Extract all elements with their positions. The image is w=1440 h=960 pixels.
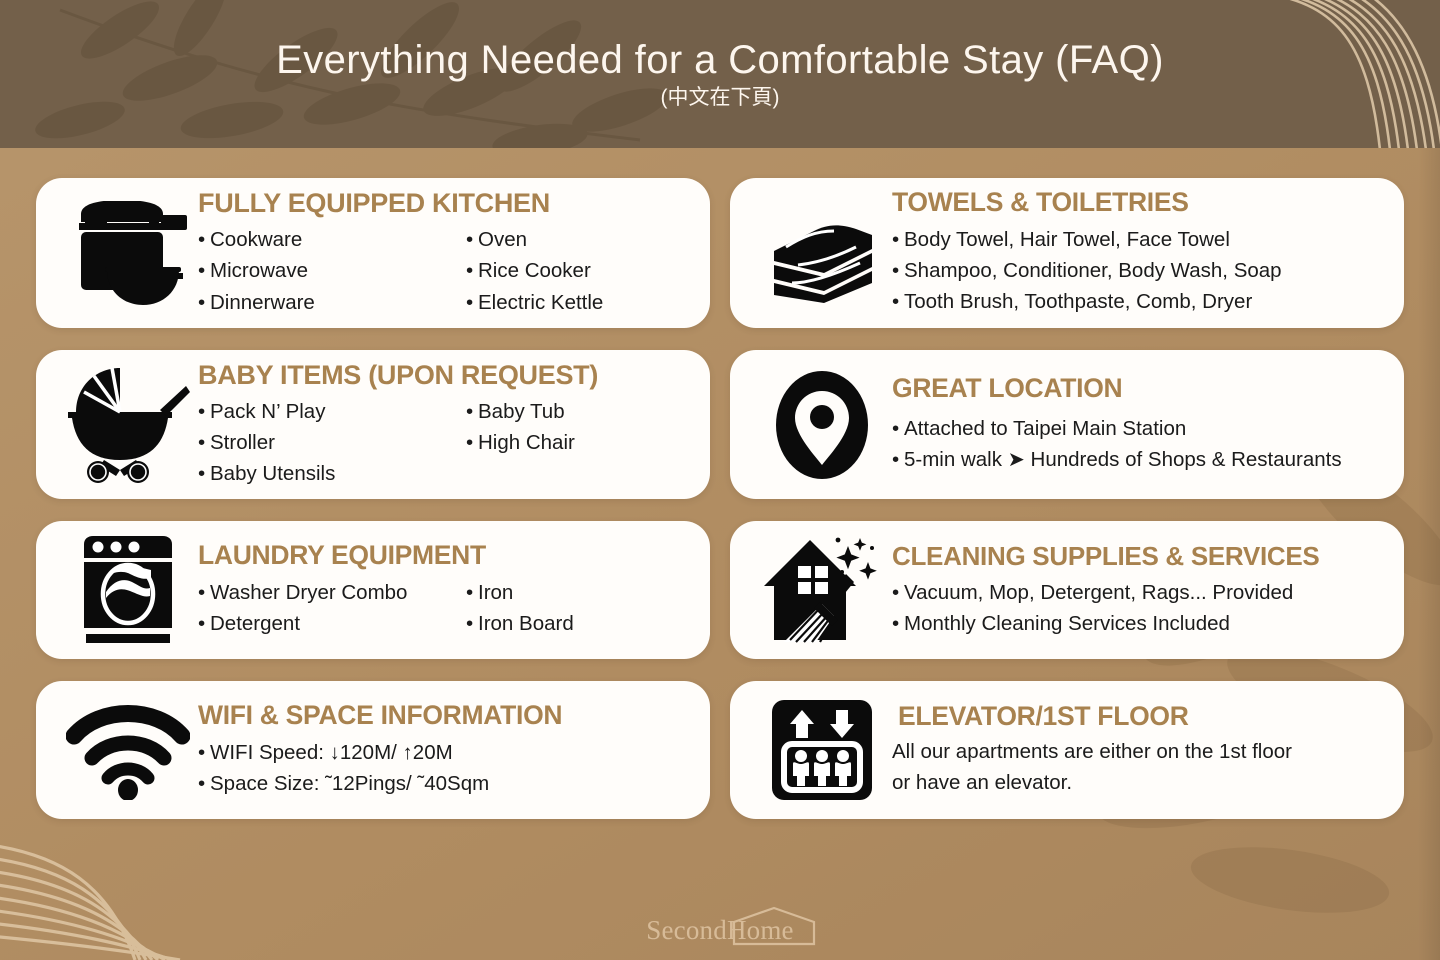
list-item: •Baby Tub xyxy=(466,396,575,427)
list-item: •Pack N’ Play xyxy=(198,396,466,427)
card-elevator[interactable]: ELEVATOR/1ST FLOOR All our apartments ar… xyxy=(730,681,1404,819)
card-title-great-location: GREAT LOCATION xyxy=(892,374,1382,404)
list-item: •Stroller xyxy=(198,427,466,458)
card-body-towels: TOWELS & TOILETRIES •Body Towel, Hair To… xyxy=(892,188,1388,317)
house-broom-sparkle-icon xyxy=(752,531,892,649)
baby-bullets: •Pack N’ Play •Stroller •Baby Utensils •… xyxy=(198,396,688,489)
elevator-icon xyxy=(752,691,892,809)
list-item: •Electric Kettle xyxy=(466,287,603,318)
cleaning-bullets: •Vacuum, Mop, Detergent, Rags... Provide… xyxy=(892,577,1382,639)
wifi-bullets: •WIFI Speed: ↓120M/ ↑20M •Space Size: ˜1… xyxy=(198,737,688,799)
folded-towels-icon xyxy=(752,194,892,312)
towels-bullets: •Body Towel, Hair Towel, Face Towel •Sha… xyxy=(892,224,1382,317)
list-item: •Shampoo, Conditioner, Body Wash, Soap xyxy=(892,255,1382,286)
right-edge-shade xyxy=(1418,148,1440,960)
list-item: •Iron Board xyxy=(466,608,574,639)
card-title-laundry: LAUNDRY EQUIPMENT xyxy=(198,541,688,571)
page-subtitle: (中文在下頁) xyxy=(661,86,780,109)
card-towels[interactable]: TOWELS & TOILETRIES •Body Towel, Hair To… xyxy=(730,178,1404,328)
list-item: •Microwave xyxy=(198,255,466,286)
list-item: •Space Size: ˜12Pings/ ˜40Sqm xyxy=(198,768,688,799)
footer: SecondHome xyxy=(0,915,1440,946)
list-item: •Monthly Cleaning Services Included xyxy=(892,608,1382,639)
card-body-wifi: WIFI & SPACE INFORMATION •WIFI Speed: ↓1… xyxy=(198,701,694,799)
elevator-description-line1: All our apartments are either on the 1st… xyxy=(892,737,1382,768)
card-title-wifi: WIFI & SPACE INFORMATION xyxy=(198,701,688,731)
card-title-baby-items: BABY ITEMS (UPON REQUEST) xyxy=(198,360,688,390)
laundry-column-b: •Iron •Iron Board xyxy=(466,577,574,639)
card-great-location[interactable]: GREAT LOCATION •Attached to Taipei Main … xyxy=(730,350,1404,500)
list-item: •Dinnerware xyxy=(198,287,466,318)
list-item: •WIFI Speed: ↓120M/ ↑20M xyxy=(198,737,688,768)
card-body-cleaning: CLEANING SUPPLIES & SERVICES •Vacuum, Mo… xyxy=(892,542,1388,639)
card-wifi[interactable]: WIFI & SPACE INFORMATION •WIFI Speed: ↓1… xyxy=(36,681,710,819)
list-item: •Attached to Taipei Main Station xyxy=(892,413,1382,444)
card-kitchen[interactable]: FULLY EQUIPPED KITCHEN •Cookware •Microw… xyxy=(36,178,710,328)
brand-logo: SecondHome xyxy=(646,915,793,946)
card-baby-items[interactable]: BABY ITEMS (UPON REQUEST) •Pack N’ Play … xyxy=(36,350,710,500)
list-item: •5-min walk ➤ Hundreds of Shops & Restau… xyxy=(892,444,1382,475)
kitchen-bullets: •Cookware •Microwave •Dinnerware •Oven •… xyxy=(198,224,688,317)
card-body-laundry: LAUNDRY EQUIPMENT •Washer Dryer Combo •D… xyxy=(198,541,694,639)
washing-machine-icon xyxy=(58,531,198,649)
list-item: •Tooth Brush, Toothpaste, Comb, Dryer xyxy=(892,286,1382,317)
list-item: •High Chair xyxy=(466,427,575,458)
baby-column-a: •Pack N’ Play •Stroller •Baby Utensils xyxy=(198,396,466,489)
laundry-bullets: •Washer Dryer Combo •Detergent •Iron •Ir… xyxy=(198,577,688,639)
card-laundry[interactable]: LAUNDRY EQUIPMENT •Washer Dryer Combo •D… xyxy=(36,521,710,659)
list-item: •Vacuum, Mop, Detergent, Rags... Provide… xyxy=(892,577,1382,608)
list-item: •Detergent xyxy=(198,608,466,639)
laundry-column-a: •Washer Dryer Combo •Detergent xyxy=(198,577,466,639)
location-bullets: •Attached to Taipei Main Station •5-min … xyxy=(892,413,1382,475)
card-grid: FULLY EQUIPPED KITCHEN •Cookware •Microw… xyxy=(36,178,1404,819)
list-item: •Washer Dryer Combo xyxy=(198,577,466,608)
header-text-block: Everything Needed for a Comfortable Stay… xyxy=(0,0,1440,148)
baby-column-b: •Baby Tub •High Chair xyxy=(466,396,575,489)
card-body-great-location: GREAT LOCATION •Attached to Taipei Main … xyxy=(892,374,1388,476)
brand-name-second: Home xyxy=(727,915,794,945)
wifi-signal-icon xyxy=(58,691,198,809)
card-body-baby-items: BABY ITEMS (UPON REQUEST) •Pack N’ Play … xyxy=(198,360,694,490)
list-item: •Iron xyxy=(466,577,574,608)
kitchen-column-a: •Cookware •Microwave •Dinnerware xyxy=(198,224,466,317)
elevator-description-line2: or have an elevator. xyxy=(892,768,1382,799)
card-body-kitchen: FULLY EQUIPPED KITCHEN •Cookware •Microw… xyxy=(198,188,694,318)
card-title-kitchen: FULLY EQUIPPED KITCHEN xyxy=(198,188,688,218)
list-item: •Body Towel, Hair Towel, Face Towel xyxy=(892,224,1382,255)
kitchen-column-b: •Oven •Rice Cooker •Electric Kettle xyxy=(466,224,603,317)
list-item: •Rice Cooker xyxy=(466,255,603,286)
card-title-elevator: ELEVATOR/1ST FLOOR xyxy=(898,702,1382,732)
page-title: Everything Needed for a Comfortable Stay… xyxy=(276,38,1164,82)
list-item: •Cookware xyxy=(198,224,466,255)
list-item: •Oven xyxy=(466,224,603,255)
cooking-pot-icon xyxy=(58,194,198,312)
map-pin-icon xyxy=(752,366,892,484)
card-title-towels: TOWELS & TOILETRIES xyxy=(892,188,1382,218)
baby-stroller-icon xyxy=(58,366,198,484)
card-cleaning[interactable]: CLEANING SUPPLIES & SERVICES •Vacuum, Mo… xyxy=(730,521,1404,659)
list-item: •Baby Utensils xyxy=(198,458,466,489)
card-title-cleaning: CLEANING SUPPLIES & SERVICES xyxy=(892,542,1382,571)
brand-name-first: Second xyxy=(646,915,727,945)
card-body-elevator: ELEVATOR/1ST FLOOR All our apartments ar… xyxy=(892,702,1388,799)
